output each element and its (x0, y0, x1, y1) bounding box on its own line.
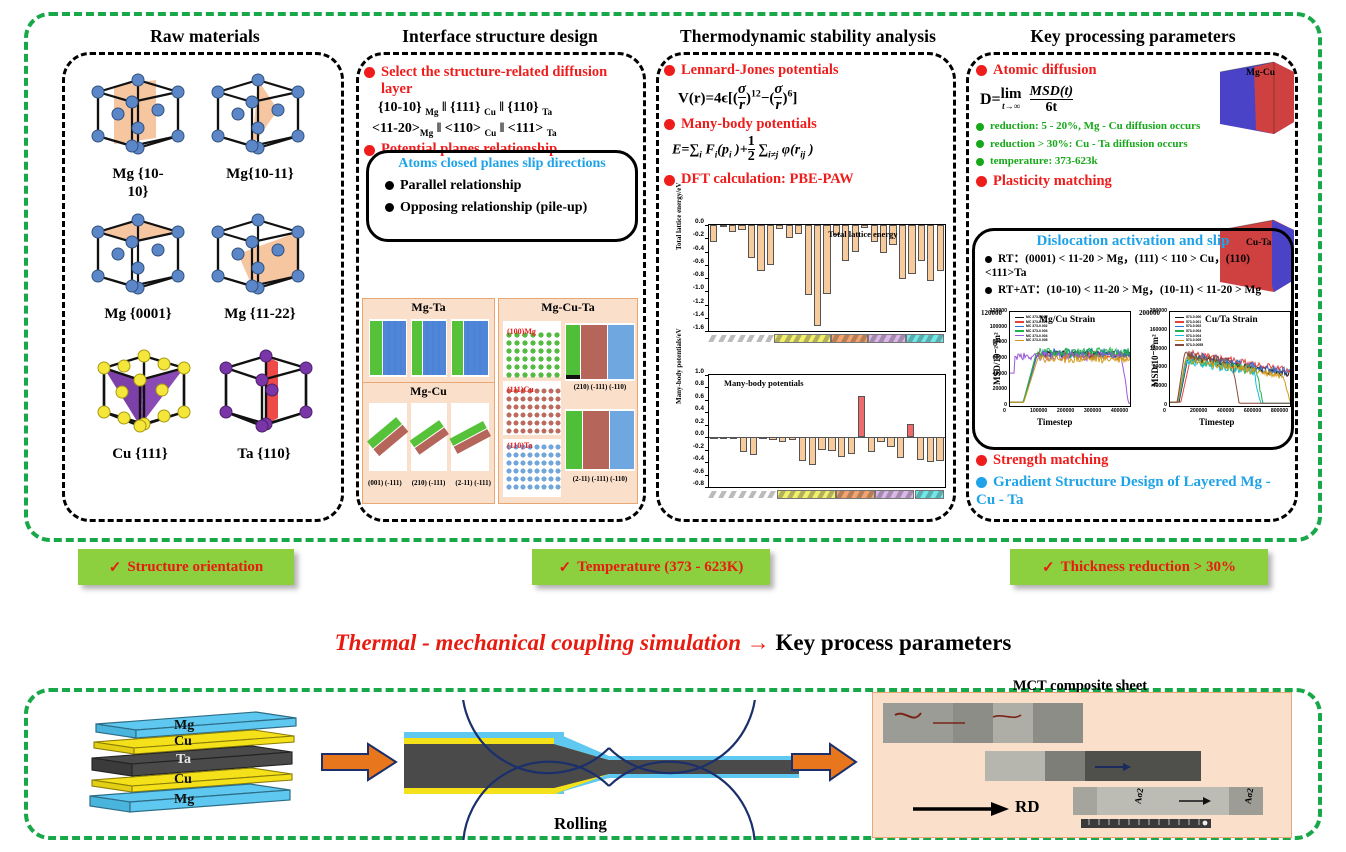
mg-cu-structure-images (367, 401, 492, 473)
legend-label: MC 373-0.003 (1026, 329, 1048, 333)
chart-bar (877, 437, 884, 442)
chart-bar (838, 437, 845, 456)
legend-color-swatch (1015, 321, 1024, 322)
chart-bar (767, 225, 774, 265)
mgcu-xlabel: Timestep (1037, 417, 1072, 427)
ytick-label: 0.0 (695, 218, 704, 225)
banner-temperature: ✓Temperature (373 - 623K) (532, 549, 770, 585)
ytick-label: 160000 (1150, 327, 1167, 333)
xtick-label: 200000 (1057, 408, 1074, 414)
banner-structure-orientation: ✓Structure orientation (78, 549, 294, 585)
ytick-label: 40000 (1153, 383, 1167, 389)
red-bullet-icon (976, 176, 987, 187)
ytick-label: -0.6 (693, 258, 704, 265)
stack-label-cu-bottom: Cu (174, 772, 192, 788)
chart-bar (887, 437, 894, 447)
chart-bar (814, 225, 821, 326)
ytick-label: 80000 (1153, 364, 1167, 370)
cuta-xlabel: Timestep (1199, 417, 1234, 427)
peach-panel-mg-cu-ta: Mg-Cu-Ta (498, 298, 638, 504)
chart-bar (710, 225, 717, 242)
ytick-label: 0.4 (695, 405, 704, 412)
legend-label: 573-0.000 (1186, 315, 1201, 319)
legend-item: MC 373-0.005 (1015, 338, 1059, 343)
legend-color-swatch (1175, 344, 1184, 345)
chart-bar (805, 225, 812, 295)
chart-bar (861, 225, 868, 228)
chart-bar (786, 225, 793, 238)
red-bullet-icon (976, 455, 987, 466)
ytick-label: -0.8 (693, 480, 704, 487)
chart-bar (927, 437, 934, 462)
chart-bar (828, 437, 835, 451)
kp-bullet-3-label: Strength matching (993, 452, 1108, 468)
dislocation-box-title: Dislocation activation and slip (975, 233, 1291, 250)
black-bullet-icon (985, 256, 992, 263)
chart2-yticks: -0.8-0.6-0.4-0.20.00.20.40.60.81.0 (680, 372, 706, 490)
xtick-label: 400000 (1111, 408, 1128, 414)
legend-color-swatch (1015, 326, 1024, 327)
mg-cu-caption-2: (2-11) (-111) (455, 479, 491, 487)
thermo-bullet-3-label: DFT calculation: PBE-PAW (681, 171, 854, 187)
chart-cu-ta-strain: 200000 MSD/10⁻²⁰m² Cu/Ta Strain 02000004… (1137, 309, 1295, 431)
mct-composite-sheet-panel: RD Aσ2 Aσ2 (872, 692, 1292, 838)
orientation-planes-label: {10-10} Mg ‖ {111} Cu ‖ {110} Ta (378, 99, 644, 118)
ytick-label: 20000 (993, 386, 1007, 392)
legend-label: 573-0.002 (1186, 324, 1201, 328)
red-bullet-icon (976, 65, 987, 76)
interface-text-block: Select the structure-related diffusion l… (364, 64, 644, 161)
ytick-label: 1.0 (695, 368, 704, 375)
dislocation-item-1: RT+ΔT：(10-10) < 11-20 > Mg，(10-11) < 11-… (985, 283, 1285, 297)
legend-color-swatch (1175, 317, 1184, 318)
crystal-cell-mg-10-11 (206, 66, 314, 166)
chart2-plot-area (708, 374, 946, 488)
red-bullet-icon (664, 65, 675, 76)
legend-label: MC 373-0.001 (1026, 320, 1048, 324)
crystal-cell-mg-10-10 (86, 66, 194, 166)
banner-thickness-reduction: ✓Thickness reduction > 30% (1010, 549, 1268, 585)
chart-bar (729, 225, 736, 232)
check-icon: ✓ (109, 558, 122, 577)
mg-cu-ta-plane-stack (503, 315, 561, 499)
xtick-label: 600000 (1244, 408, 1261, 414)
arrow-icon-right-1 (320, 742, 400, 782)
chart1-category-bands (708, 334, 946, 345)
crystal-cell-cu-111 (88, 346, 196, 442)
chart-bar (750, 437, 757, 454)
chart-bar (927, 225, 934, 281)
crystal-caption-mg-10-10-cont: 10} (78, 184, 198, 201)
ytick-label: 40000 (993, 371, 1007, 377)
ytick-label: -0.6 (693, 468, 704, 475)
key-processing-text-block: Atomic diffusion D=limt→∞ MSD(t)6t reduc… (976, 62, 1226, 192)
chart-bar (868, 437, 875, 451)
chart-bar (759, 437, 766, 439)
xtick-label: 0 (1163, 408, 1166, 414)
peach-panel-mg-cu: Mg-Cu (001) (-111) (210) (-111) (2-11) (… (362, 382, 495, 504)
chart-bar (799, 437, 806, 461)
key-processing-footer: Strength matching Gradient Structure Des… (976, 452, 1286, 511)
red-bullet-icon (664, 119, 675, 130)
chart-bar (757, 225, 764, 271)
kp-bullet-1-label: Atomic diffusion (993, 62, 1097, 78)
peach-title-mg-cu-ta: Mg-Cu-Ta (499, 300, 637, 315)
cuta-yticks: 04000080000120000160000200000 (1139, 311, 1168, 407)
crystal-cell-mg-11-22 (206, 206, 314, 306)
kp-green-item-2: temperature: 373-623k (990, 155, 1098, 167)
ytick-label: -1.6 (693, 324, 704, 331)
ytick-label: 0.8 (695, 380, 704, 387)
chart-bar (897, 437, 904, 458)
ytick-label: 0.2 (695, 418, 704, 425)
chart-bar (918, 225, 925, 261)
stack-label-ta: Ta (176, 752, 191, 768)
stack-label-cu-top: Cu (174, 734, 192, 750)
ytick-label: 0.6 (695, 393, 704, 400)
chart-bar (937, 225, 944, 271)
chart-bar (720, 437, 727, 439)
legend-label: MC 373-0.005 (1026, 338, 1048, 342)
ytick-label: 200000 (1150, 308, 1167, 314)
chart1-inner-title: Total lattice energy (828, 230, 908, 240)
chart-many-body-potentials: Many-body potentials/eV -0.8-0.6-0.4-0.2… (668, 372, 950, 512)
legend-label: 573-0.005 (1186, 338, 1201, 342)
check-icon: ✓ (1042, 558, 1055, 577)
chart-mg-cu-strain: 120000 MSD/10⁻²⁰m² Mg/Cu Strain 01000002… (979, 309, 1135, 431)
ytick-label: -0.4 (693, 455, 704, 462)
chart-bar (848, 437, 855, 454)
chart-bar (907, 424, 914, 437)
kp-bullet-2-label: Plasticity matching (993, 173, 1112, 189)
legend-label: 573-0.001 (1186, 320, 1201, 324)
slip-item-0: Parallel relationship (385, 178, 635, 194)
ytick-label: -0.2 (693, 231, 704, 238)
crystal-caption-ta-110: Ta {110} (202, 446, 326, 463)
mg-cu-ta-caption-1: (2-11) (-111) (-110) (561, 475, 639, 483)
diffusion-equation: D=limt→∞ MSD(t)6t (980, 84, 1226, 116)
thermo-bullet-1-label: Lennard-Jones potentials (681, 62, 839, 78)
lennard-jones-equation: V(r)=4ϵ[(σr)12−(σr)6] (678, 82, 956, 113)
legend-color-swatch (1015, 340, 1024, 341)
thermo-bullet-2-label: Many-body potentials (681, 116, 817, 132)
ytick-label: -1.4 (693, 311, 704, 318)
ytick-label: -1.0 (693, 284, 704, 291)
chart-bar (776, 225, 783, 229)
headline-bold: Key process parameters (775, 630, 1011, 655)
chart-bar (730, 437, 737, 439)
blue-bullet-icon (976, 477, 987, 488)
green-bullet-icon (976, 140, 984, 148)
column-title-thermodynamic: Thermodynamic stability analysis (648, 26, 968, 47)
mg-ta-structure-images (367, 317, 492, 379)
legend-color-swatch (1175, 326, 1184, 327)
chart-bar (769, 437, 776, 439)
column-title-raw-materials: Raw materials (70, 26, 340, 47)
ytick-label: 120000 (990, 308, 1007, 314)
mg-cu-ta-interface-image-0 (565, 323, 635, 381)
chart2-category-bands (708, 490, 946, 501)
legend-item: 573-0.0055 (1175, 343, 1215, 348)
green-bullet-icon (976, 158, 984, 166)
crystal-caption-mg-10-10: Mg {10- (78, 166, 198, 183)
chart-bar (936, 437, 943, 461)
green-bullet-icon (976, 123, 984, 131)
chart2-inner-title: Many-body potentials (724, 378, 804, 388)
arrow-icon-right-2 (790, 742, 860, 782)
mgcu-legend: MC 373-0.000MC 373-0.001MC 373-0.002MC 3… (1015, 315, 1059, 347)
layered-stack-diagram: Mg Cu Ta Cu Mg (86, 700, 306, 825)
xtick-label: 0 (1003, 408, 1006, 414)
check-icon: ✓ (559, 558, 572, 577)
kp-green-item-1: reduction > 30%: Cu - Ta diffusion occur… (990, 138, 1188, 150)
diffusion-label-mg-cu: Mg-Cu (1246, 68, 1275, 78)
ytick-label: -0.8 (693, 271, 704, 278)
crystal-cell-ta-110 (210, 346, 318, 442)
diffusion-block-mg-cu: Mg-Cu (1216, 60, 1298, 138)
plane-label-100-mg: (100)Mg (507, 327, 536, 336)
stack-label-mg-top: Mg (174, 718, 194, 734)
xtick-label: 800000 (1271, 408, 1288, 414)
chart1-plot-area (708, 224, 946, 332)
headline-italic: Thermal - mechanical coupling simulation… (335, 630, 776, 655)
ytick-label: -1.2 (693, 298, 704, 305)
legend-color-swatch (1015, 330, 1024, 331)
rd-direction-label: RD (1015, 797, 1040, 817)
crystal-cell-grid: Mg {10- 10} Mg{10-11} (78, 66, 328, 516)
legend-label: 573-0.003 (1186, 329, 1201, 333)
chart-bar (740, 437, 747, 451)
legend-label: MC 373-0.002 (1026, 324, 1048, 328)
black-bullet-icon (385, 203, 394, 212)
headline-thermal-mechanical: Thermal - mechanical coupling simulation… (0, 630, 1346, 656)
crystal-caption-mg-0001: Mg {0001} (78, 306, 198, 323)
dislocation-item-0: RT：(0001) < 11-20 > Mg，(111) < 110 > Cu，… (985, 252, 1285, 281)
chart-bar (748, 225, 755, 258)
column-title-key-processing: Key processing parameters (968, 26, 1298, 47)
plane-label-111-cu: (111)Cu (507, 385, 534, 394)
black-bullet-icon (985, 287, 992, 294)
slip-directions-title: Atoms closed planes slip directions (369, 156, 635, 172)
chart-bar (818, 437, 825, 450)
many-body-equation: E=∑i Fi(pi )+12 ∑i≠j φ(rij ) (672, 135, 956, 164)
ytick-label: 0 (1004, 402, 1007, 408)
crystal-caption-mg-11-22: Mg {11-22} (198, 306, 322, 323)
crystal-cell-mg-0001 (86, 206, 194, 306)
ytick-label: 100000 (990, 324, 1007, 330)
legend-color-swatch (1175, 330, 1184, 331)
legend-label: 573-0.004 (1186, 334, 1201, 338)
chart-bar (795, 225, 802, 234)
column-title-interface-structure: Interface structure design (355, 26, 645, 47)
ytick-label: 80000 (993, 339, 1007, 345)
mg-cu-ta-interface-image-1 (565, 409, 635, 471)
legend-color-swatch (1175, 335, 1184, 336)
mg-cu-caption-0: (001) (-111) (368, 479, 402, 487)
xtick-label: 200000 (1190, 408, 1207, 414)
chart-bar (789, 437, 796, 440)
black-bullet-icon (385, 181, 394, 190)
plane-label-110-ta: (110)Ta (507, 441, 533, 450)
legend-label: MC 373-0.000 (1026, 315, 1048, 319)
xtick-label: 100000 (1030, 408, 1047, 414)
mgcu-yticks: 020000400006000080000100000120000 (981, 311, 1008, 407)
chart-bar (720, 225, 727, 227)
chart-bar (917, 437, 924, 460)
mg-cu-caption-1: (210) (-111) (412, 479, 446, 487)
legend-color-swatch (1175, 321, 1184, 322)
legend-label: MC 373-0.004 (1026, 334, 1048, 338)
interface-bullet-1-label: Select the structure-related diffusion l… (381, 64, 613, 97)
slip-item-1: Opposing relationship (pile-up) (385, 200, 635, 216)
ytick-label: 120000 (1150, 346, 1167, 352)
chart-bar (809, 437, 816, 464)
ytick-label: 0.0 (695, 430, 704, 437)
ytick-label: -0.2 (693, 443, 704, 450)
legend-color-swatch (1015, 317, 1024, 318)
chart-bar (908, 225, 915, 274)
rolling-diagram: Rolling (404, 700, 824, 840)
ytick-label: -0.4 (693, 245, 704, 252)
ytick-label: 0 (1164, 402, 1167, 408)
ytick-label: 60000 (993, 355, 1007, 361)
orientation-directions-label: <11-20>Mg ‖ <110> Cu ‖ <111> Ta (372, 120, 644, 139)
legend-color-swatch (1175, 340, 1184, 341)
rolling-label: Rolling (554, 814, 607, 834)
slip-directions-box: Atoms closed planes slip directions Para… (366, 150, 638, 242)
crystal-caption-cu-111: Cu {111} (78, 446, 202, 463)
legend-label: 573-0.0055 (1186, 343, 1203, 347)
peach-title-mg-ta: Mg-Ta (363, 300, 494, 315)
legend-color-swatch (1015, 335, 1024, 336)
kp-green-item-0: reduction: 5 - 20%, Mg - Cu diffusion oc… (990, 120, 1200, 132)
peach-title-mg-cu: Mg-Cu (363, 384, 494, 399)
chart-bar (858, 396, 865, 438)
chart-bar (738, 225, 745, 230)
xtick-label: 300000 (1084, 408, 1101, 414)
xtick-label: 400000 (1217, 408, 1234, 414)
chart-bar (710, 437, 717, 439)
kp-bullet-4-label: Gradient Structure Design of Layered Mg … (976, 474, 1271, 508)
cuta-legend: 573-0.000573-0.001573-0.002573-0.003573-… (1175, 315, 1215, 349)
mg-cu-ta-caption-0: (210) (-111) (-110) (565, 383, 635, 391)
red-bullet-icon (364, 67, 375, 78)
chart-total-lattice-energy: Total lattice energy/eV -1.6-1.4-1.2-1.0… (668, 222, 950, 362)
dislocation-box: Dislocation activation and slip RT：(0001… (972, 228, 1294, 450)
stack-label-mg-bottom: Mg (174, 792, 194, 808)
thermo-text-block: Lennard-Jones potentials V(r)=4ϵ[(σr)12−… (664, 62, 956, 191)
chart-bar (779, 437, 786, 442)
crystal-caption-mg-10-11: Mg{10-11} (198, 166, 322, 183)
